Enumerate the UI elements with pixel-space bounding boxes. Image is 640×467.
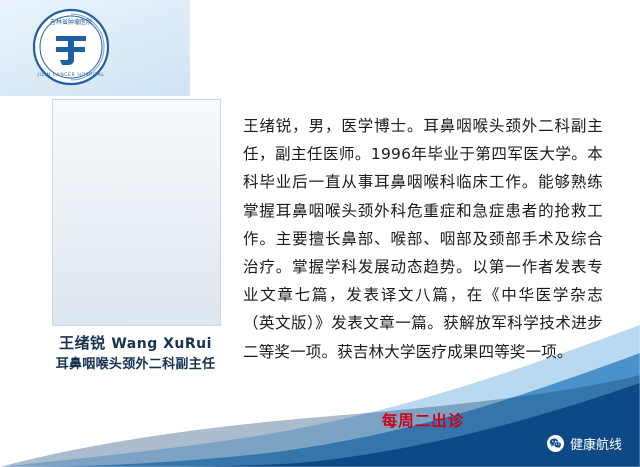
doctor-biography: 王绪锐，男，医学博士。耳鼻咽喉头颈外二科副主任，副主任医师。1996年毕业于第四… — [243, 112, 603, 366]
doctor-title: 耳鼻咽喉头颈外二科副主任 — [28, 355, 243, 375]
wechat-account-name: 健康航线 — [570, 434, 622, 453]
svg-text:JILIN CANCER HOSPITAL: JILIN CANCER HOSPITAL — [37, 72, 105, 78]
photo-background — [53, 100, 220, 325]
doctor-name-cn: 王绪锐 — [59, 334, 106, 352]
doctor-photo — [52, 99, 221, 326]
doctor-name: 王绪锐 Wang XuRui — [28, 332, 243, 355]
svg-text:吉林省肿瘤医院: 吉林省肿瘤医院 — [50, 18, 92, 26]
wechat-account-footer: 健康航线 — [547, 434, 622, 453]
hospital-logo: 吉林省肿瘤医院 JILIN CANCER HOSPITAL — [18, 8, 124, 86]
wechat-icon — [547, 435, 564, 452]
clinic-day-note: 每周二出诊 — [243, 409, 603, 431]
poster-page: 吉林省肿瘤医院 JILIN CANCER HOSPITAL — [0, 0, 640, 467]
doctor-name-en: Wang XuRui — [111, 336, 212, 352]
doctor-name-block: 王绪锐 Wang XuRui 耳鼻咽喉头颈外二科副主任 — [28, 332, 243, 375]
